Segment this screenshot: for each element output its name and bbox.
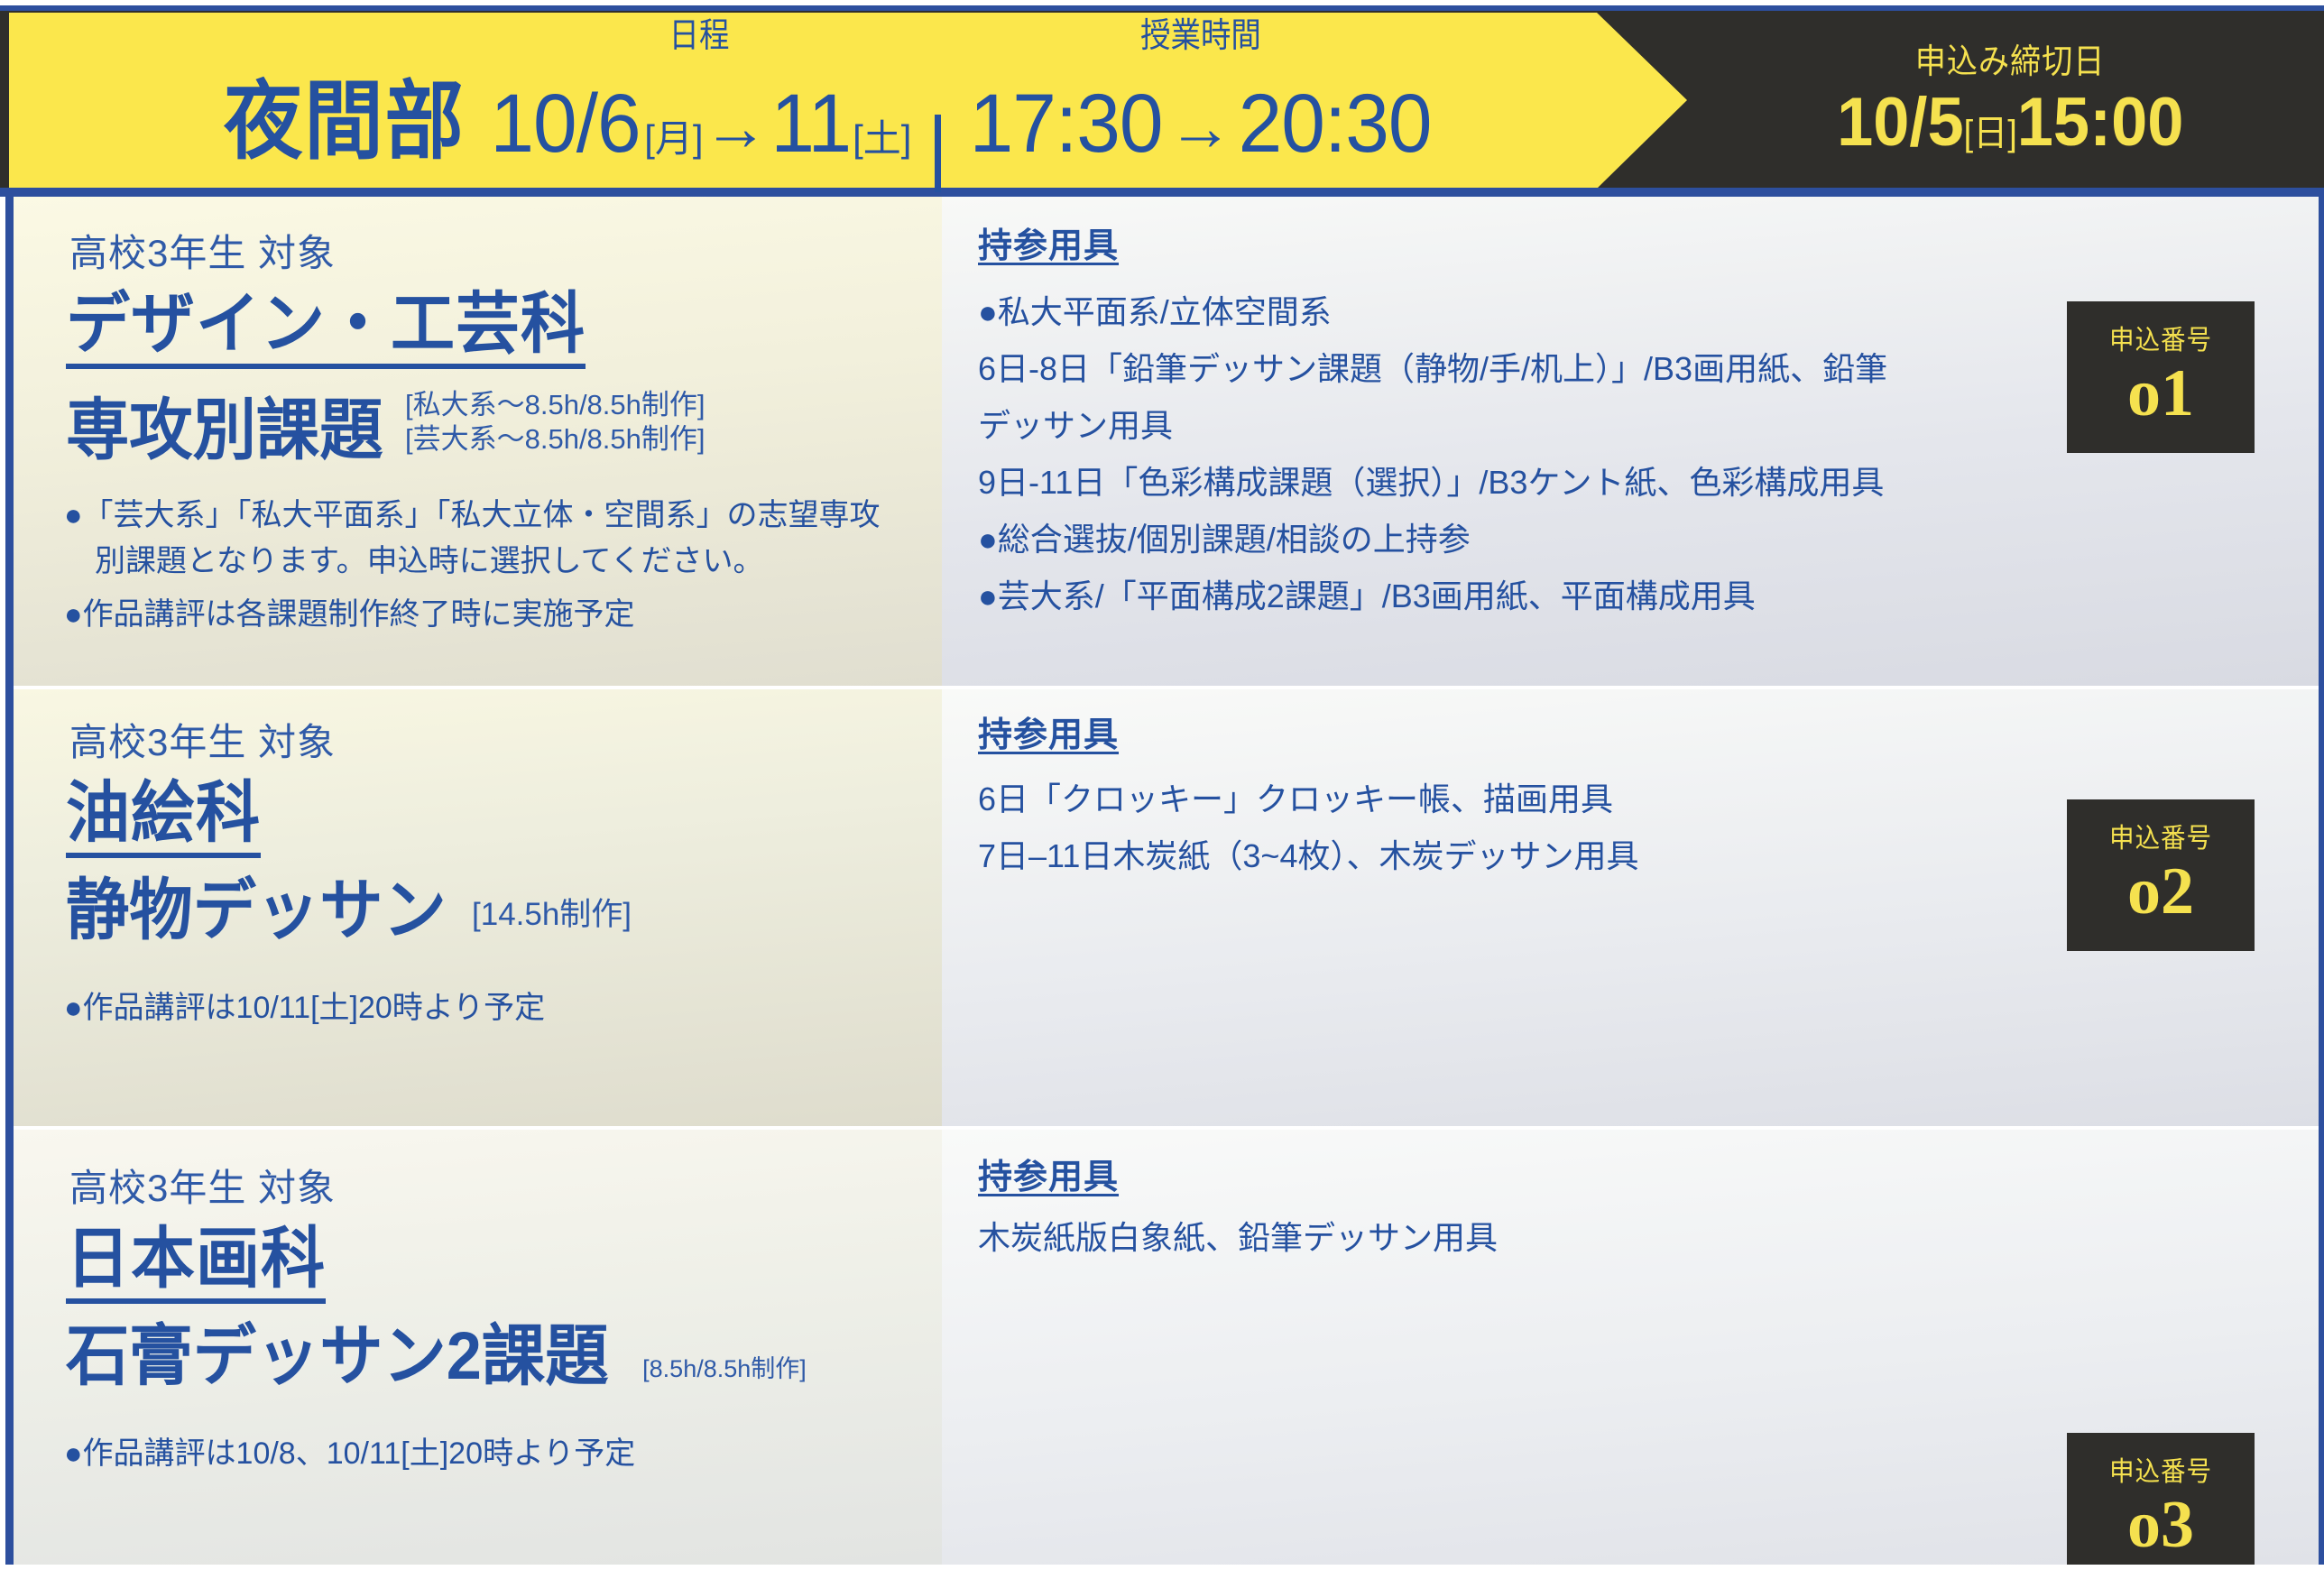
course-1-tools-heading: 持参用具 bbox=[978, 229, 1119, 263]
course-title: 夜間部 bbox=[224, 79, 466, 165]
course-3-badge-label: 申込番号 bbox=[2109, 1459, 2212, 1486]
banner-bottom-rule bbox=[0, 188, 2324, 197]
course-3-task: 石膏デッサン2課題 bbox=[66, 1323, 608, 1390]
course-1-right-panel: 持参用具 ●私大平面系/立体空間系 6日-8日「鉛筆デッサン課題（静物/手/机上… bbox=[942, 197, 2319, 689]
course-2-application-badge: 申込番号 o2 bbox=[2067, 799, 2255, 951]
course-1-note-3: ●作品講評は各課題制作終了時に実施予定 bbox=[64, 594, 930, 636]
course-1-tool-6: ●芸大系/「平面構成2課題」/B3画用紙、平面構成用具 bbox=[978, 580, 2043, 613]
course-2-task: 静物デッサン bbox=[66, 877, 447, 944]
banner-schedule-group: 夜間部 日程 10/6[月]→11[土] 授業時間 17:30→20:30 bbox=[0, 13, 1624, 189]
class-time-block: 授業時間 17:30→20:30 bbox=[964, 82, 1435, 165]
course-1-left-panel: 高校3年生 対象 デザイン・工芸科 専攻別課題 [私大系〜8.5h/8.5h制作… bbox=[14, 197, 942, 689]
course-1-application-badge: 申込番号 o1 bbox=[2067, 301, 2255, 453]
course-1-tool-1: ●私大平面系/立体空間系 bbox=[978, 296, 2043, 328]
course-2-badge-number: o2 bbox=[2127, 858, 2194, 925]
course-1-tool-5: ●総合選抜/個別課題/相談の上持参 bbox=[978, 523, 2043, 556]
date-start-weekday: [月] bbox=[644, 117, 703, 160]
deadline-time: 15:00 bbox=[2016, 84, 2183, 161]
course-3-hours: [8.5h/8.5h制作] bbox=[642, 1354, 807, 1384]
course-1-tools-list: ●私大平面系/立体空間系 6日-8日「鉛筆デッサン課題（静物/手/机上）」/B3… bbox=[978, 296, 2043, 637]
course-1-hours-line-1: [私大系〜8.5h/8.5h制作] bbox=[405, 388, 705, 422]
course-2-target: 高校3年生 対象 bbox=[69, 724, 336, 762]
course-2-right-panel: 持参用具 6日「クロッキー」クロッキー帳、描画用具 7日–11日木炭紙（3~4枚… bbox=[942, 689, 2319, 1130]
body-frame: 高校3年生 対象 デザイン・工芸科 専攻別課題 [私大系〜8.5h/8.5h制作… bbox=[5, 197, 2319, 1565]
course-2-note-1: ●作品講評は10/11[土]20時より予定 bbox=[64, 987, 930, 1030]
course-2-tool-2: 7日–11日木炭紙（3~4枚）、木炭デッサン用具 bbox=[978, 840, 2043, 873]
deadline-label: 申込み締切日 bbox=[1915, 45, 2106, 79]
course-2-tools-heading: 持参用具 bbox=[978, 718, 1119, 753]
course-1-task: 専攻別課題 bbox=[66, 397, 383, 464]
time-arrow-icon: → bbox=[1168, 92, 1233, 164]
banner-divider bbox=[935, 115, 941, 192]
deadline-value: 10/5[日]15:00 bbox=[1837, 88, 2183, 157]
deadline-block: 申込み締切日 10/5[日]15:00 bbox=[1696, 13, 2324, 189]
class-time-label: 授業時間 bbox=[1140, 19, 1261, 53]
course-3-application-badge: 申込番号 o3 bbox=[2067, 1433, 2255, 1565]
course-1-tool-2: 6日-8日「鉛筆デッサン課題（静物/手/机上）」/B3画用紙、鉛筆 bbox=[978, 353, 2043, 385]
header-banner: 夜間部 日程 10/6[月]→11[土] 授業時間 17:30→20:30 申込… bbox=[0, 0, 2324, 200]
course-2-notes: ●作品講評は10/11[土]20時より予定 bbox=[64, 987, 930, 1033]
course-1-hours-line-2: [芸大系〜8.5h/8.5h制作] bbox=[405, 422, 705, 457]
course-2-tools-list: 6日「クロッキー」クロッキー帳、描画用具 7日–11日木炭紙（3~4枚）、木炭デ… bbox=[978, 783, 2043, 897]
time-end: 20:30 bbox=[1238, 82, 1431, 165]
course-2-left-panel: 高校3年生 対象 油絵科 静物デッサン [14.5h制作] ●作品講評は10/1… bbox=[14, 689, 942, 1130]
course-1-note-2: 別課題となります。申込時に選択してください。 bbox=[64, 540, 764, 583]
deadline-weekday: [日] bbox=[1963, 114, 2016, 153]
date-arrow-icon: → bbox=[704, 92, 769, 164]
course-3-left-panel: 高校3年生 対象 日本画科 石膏デッサン2課題 [8.5h/8.5h制作] ●作… bbox=[14, 1130, 942, 1565]
course-2-badge-label: 申込番号 bbox=[2109, 826, 2212, 853]
course-2-hours: [14.5h制作] bbox=[472, 896, 632, 935]
course-1-badge-label: 申込番号 bbox=[2109, 328, 2212, 355]
deadline-date: 10/5 bbox=[1837, 84, 1964, 161]
schedule-label: 日程 bbox=[669, 19, 729, 53]
course-1-target: 高校3年生 対象 bbox=[69, 235, 336, 272]
course-section-2: 高校3年生 対象 油絵科 静物デッサン [14.5h制作] ●作品講評は10/1… bbox=[14, 689, 2319, 1130]
course-3-right-panel: 持参用具 木炭紙版白象紙、鉛筆デッサン用具 申込番号 o3 bbox=[942, 1130, 2319, 1565]
schedule-block: 日程 10/6[月]→11[土] bbox=[486, 82, 911, 165]
poster-root: 夜間部 日程 10/6[月]→11[土] 授業時間 17:30→20:30 申込… bbox=[0, 0, 2324, 1570]
course-1-notes: ●「芸大系」「私大平面系」「私大立体・空間系」の志望専攻 別課題となります。申込… bbox=[64, 494, 930, 640]
course-1-tool-4: 9日-11日「色彩構成課題（選択）」/B3ケント紙、色彩構成用具 bbox=[978, 466, 2043, 499]
date-start: 10/6 bbox=[491, 82, 641, 165]
course-2-tool-1: 6日「クロッキー」クロッキー帳、描画用具 bbox=[978, 783, 2043, 816]
course-1-department: デザイン・工芸科 bbox=[66, 287, 586, 369]
course-3-note-1: ●作品講評は10/8、10/11[土]20時より予定 bbox=[64, 1433, 930, 1475]
date-end-weekday: [土] bbox=[853, 117, 911, 160]
date-end: 11 bbox=[770, 82, 851, 165]
course-1-tool-3: デッサン用具 bbox=[978, 410, 2043, 442]
course-3-target: 高校3年生 対象 bbox=[69, 1169, 336, 1207]
course-3-tool-1: 木炭紙版白象紙、鉛筆デッサン用具 bbox=[978, 1222, 2043, 1254]
course-3-tools-heading: 持参用具 bbox=[978, 1160, 1119, 1195]
course-1-hours: [私大系〜8.5h/8.5h制作] [芸大系〜8.5h/8.5h制作] bbox=[405, 388, 705, 457]
course-section-3: 高校3年生 対象 日本画科 石膏デッサン2課題 [8.5h/8.5h制作] ●作… bbox=[14, 1130, 2319, 1565]
course-3-tools-list: 木炭紙版白象紙、鉛筆デッサン用具 bbox=[978, 1222, 2043, 1279]
course-section-1: 高校3年生 対象 デザイン・工芸科 専攻別課題 [私大系〜8.5h/8.5h制作… bbox=[14, 197, 2319, 689]
time-start: 17:30 bbox=[970, 82, 1163, 165]
course-2-department: 油絵科 bbox=[66, 776, 261, 858]
course-1-note-1: ●「芸大系」「私大平面系」「私大立体・空間系」の志望専攻 bbox=[64, 494, 930, 537]
course-3-department: 日本画科 bbox=[66, 1222, 326, 1304]
course-1-badge-number: o1 bbox=[2127, 360, 2194, 427]
course-3-badge-number: o3 bbox=[2127, 1491, 2194, 1558]
course-3-notes: ●作品講評は10/8、10/11[土]20時より予定 bbox=[64, 1433, 930, 1479]
